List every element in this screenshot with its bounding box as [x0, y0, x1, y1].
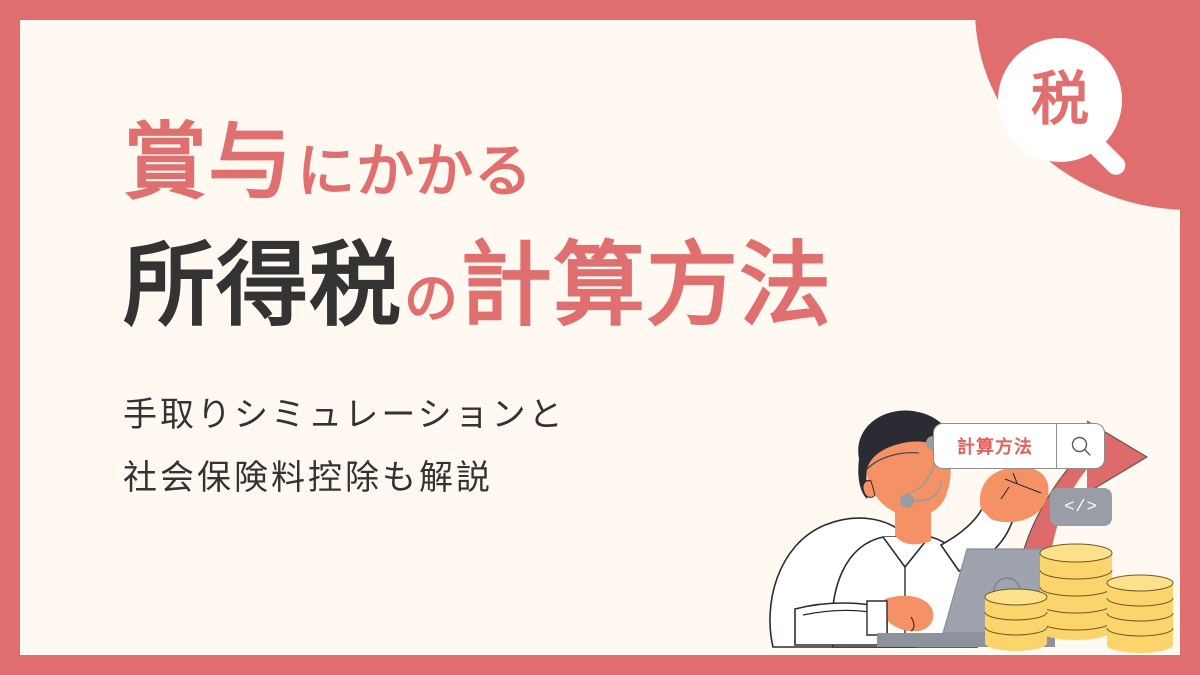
headline-main-red: 計算方法	[460, 240, 832, 332]
search-query-text: 計算方法	[934, 424, 1056, 468]
magnifier-icon: 税	[998, 38, 1130, 188]
headline-kicker-strong: 賞与	[123, 120, 293, 204]
thumbnail-canvas: 税 賞与 にかかる 所得税 の 計算方法 手取りシミュレーションと 社会保険料控…	[0, 0, 1200, 675]
headline-main-dark: 所得税	[123, 240, 402, 332]
headline-kicker-kana: にかかる	[293, 143, 533, 201]
search-icon-cell[interactable]	[1056, 424, 1104, 468]
tax-badge-label: 税	[998, 38, 1122, 162]
search-icon	[1069, 434, 1093, 458]
corner-red-blob	[975, 20, 1180, 210]
illustration: 計算方法 </>	[755, 395, 1180, 655]
code-badge: </>	[1050, 488, 1112, 526]
headline-kicker-line: 賞与 にかかる	[123, 120, 913, 204]
inner-panel: 税 賞与 にかかる 所得税 の 計算方法 手取りシミュレーションと 社会保険料控…	[20, 20, 1180, 655]
magnifier-lens	[998, 38, 1122, 162]
headline-main-line: 所得税 の 計算方法	[123, 240, 913, 332]
magnifier-handle	[1083, 133, 1129, 179]
search-bubble[interactable]: 計算方法	[933, 423, 1105, 469]
corner-tax-badge: 税	[970, 20, 1180, 210]
headline-main-particle: の	[402, 272, 460, 326]
